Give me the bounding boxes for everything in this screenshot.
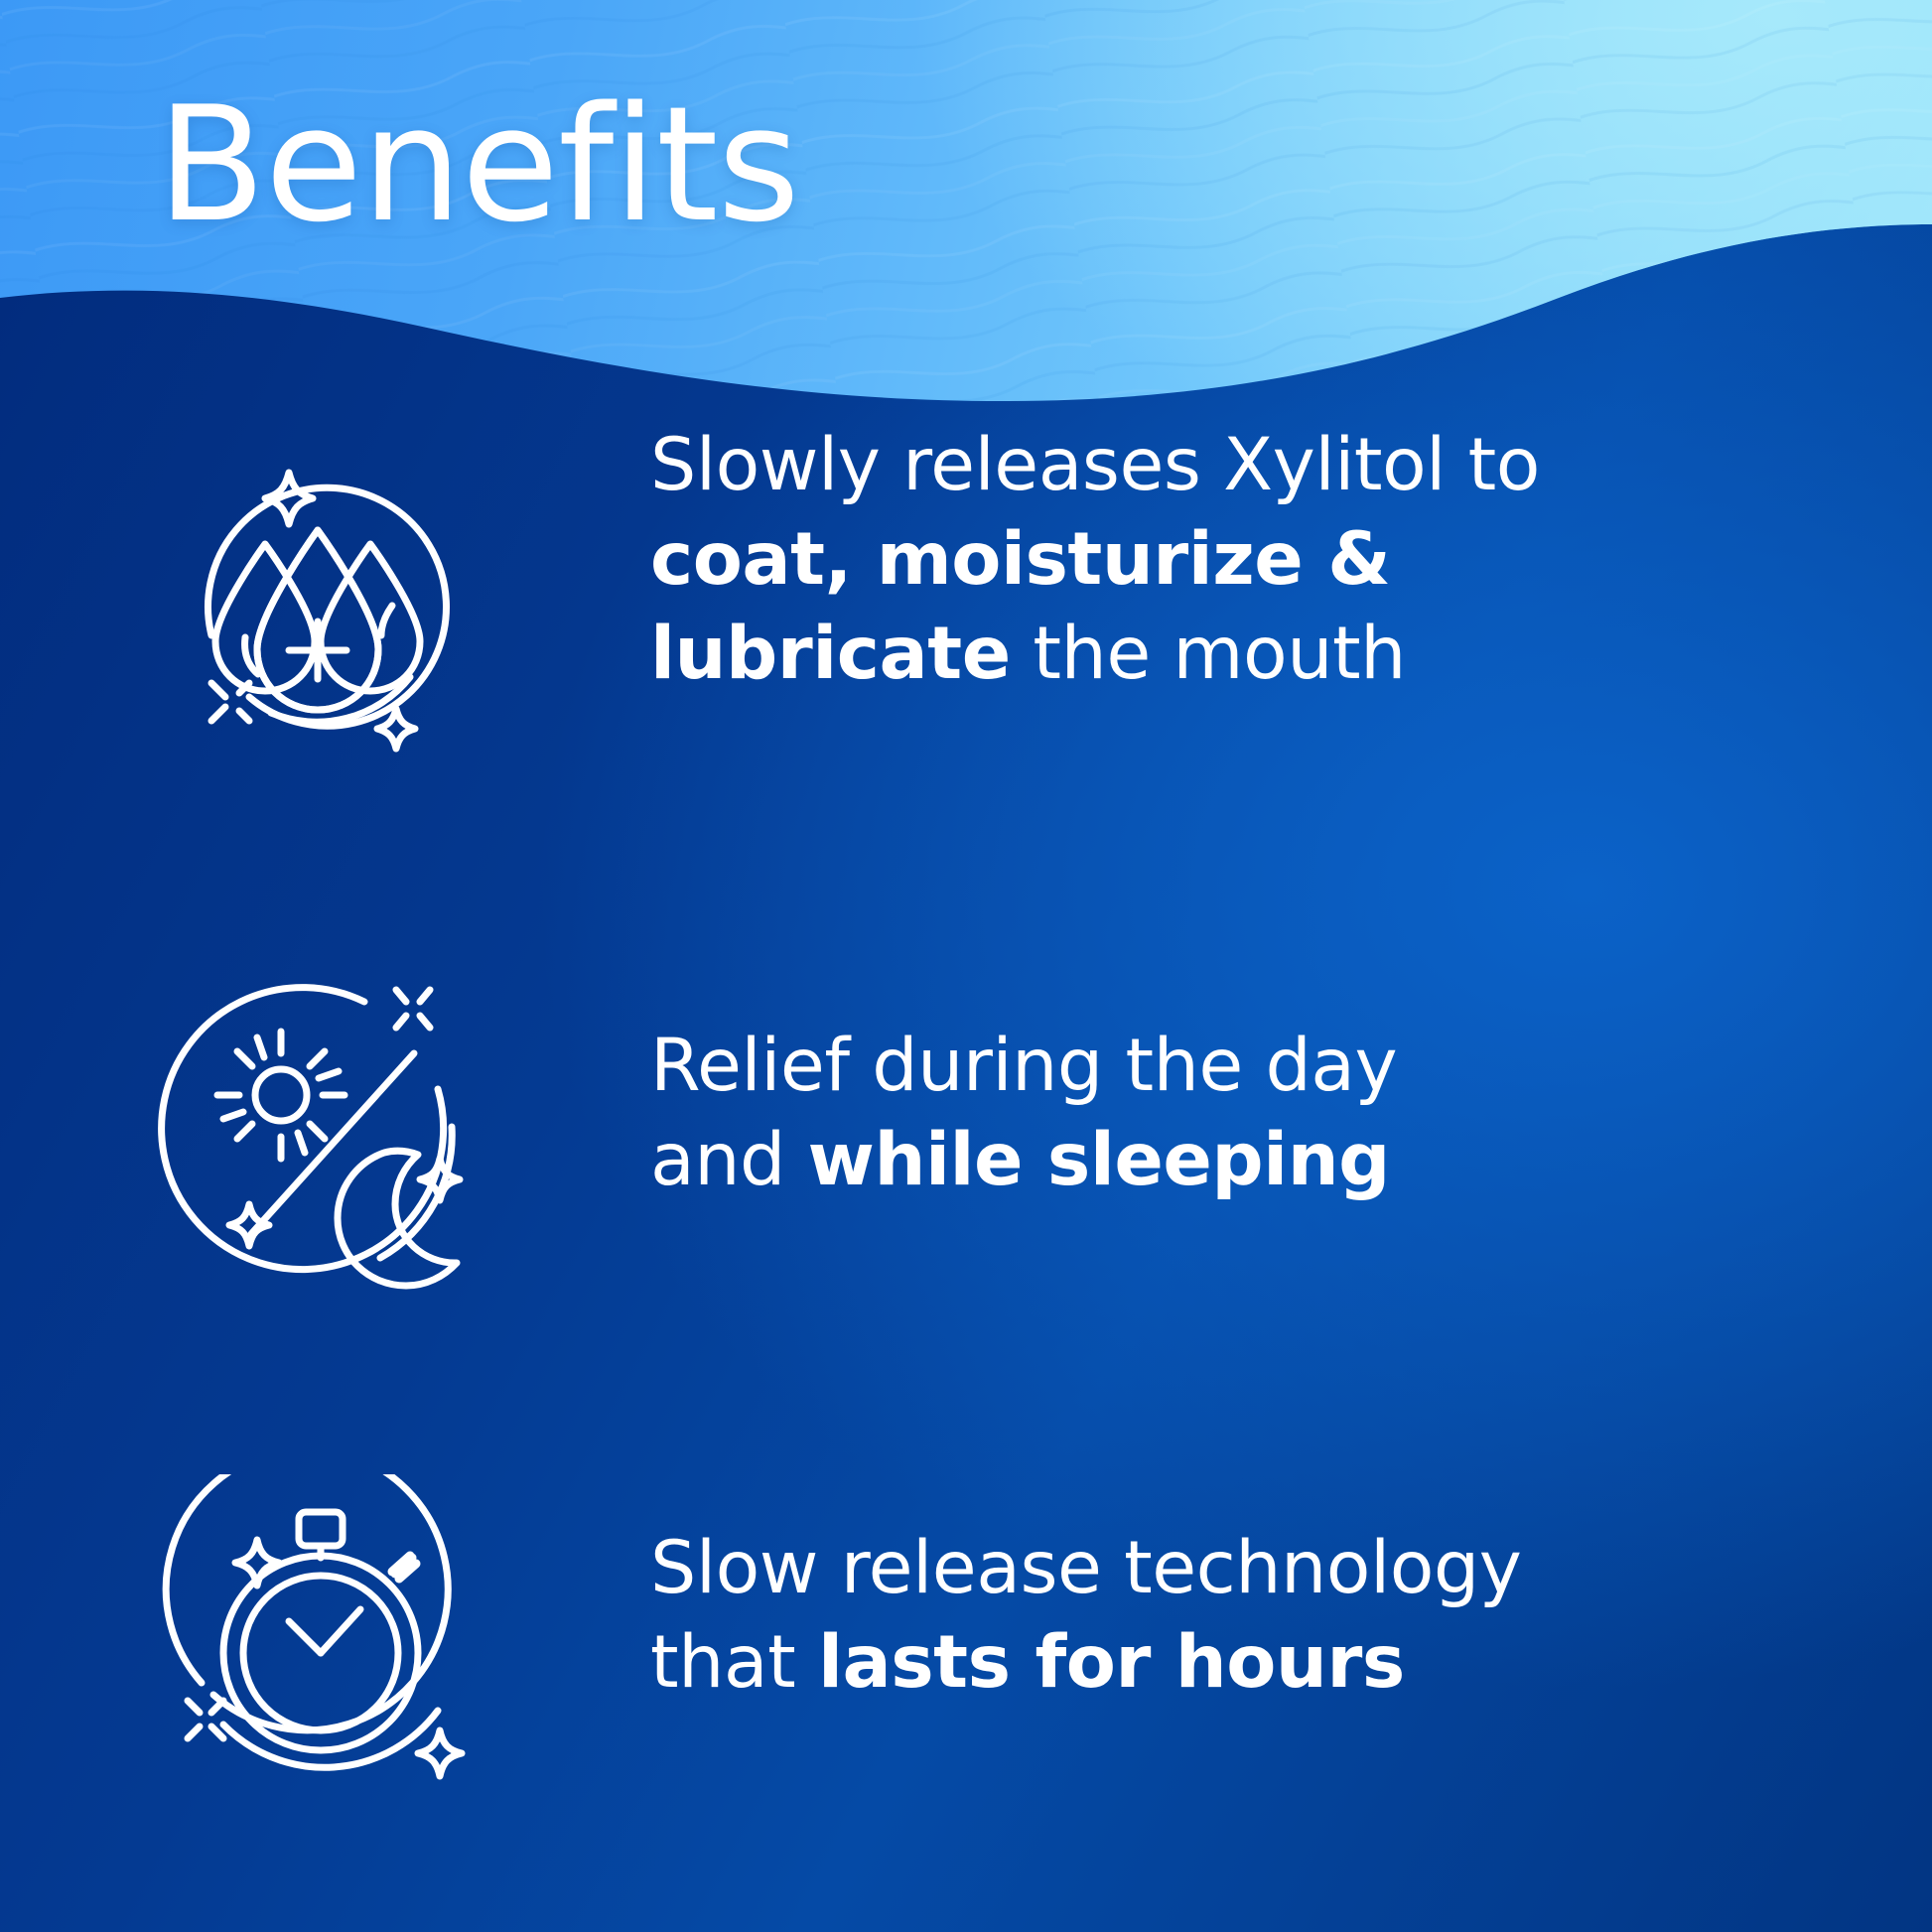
sun-moon-day-night-icon	[154, 968, 482, 1296]
benefit-line: and while sleeping	[650, 1114, 1852, 1208]
benefits-list: Slowly releases Xylitol tocoat, moisturi…	[0, 0, 1932, 1932]
benefit-text-plain: Relief during the day	[650, 1024, 1397, 1108]
benefit-text-plain: that	[650, 1620, 818, 1705]
benefit-line: that lasts for hours	[650, 1616, 1852, 1711]
water-droplets-plus-icon	[154, 427, 482, 755]
benefit-text-1: Slowly releases Xylitol tocoat, moisturi…	[650, 419, 1852, 702]
benefit-text-plain: Slowly releases Xylitol to	[650, 423, 1540, 507]
benefit-line: Relief during the day	[650, 1020, 1852, 1114]
benefit-text-plain: the mouth	[1011, 612, 1406, 696]
benefit-line: lubricate the mouth	[650, 608, 1852, 702]
stopwatch-icon	[154, 1474, 482, 1802]
benefit-text-plain: Slow release technology	[650, 1526, 1521, 1610]
benefit-text-3: Slow release technologythat lasts for ho…	[650, 1522, 1852, 1711]
benefit-text-2: Relief during the dayand while sleeping	[650, 1020, 1852, 1208]
benefit-item-2: Relief during the dayand while sleeping	[0, 968, 1932, 1296]
benefit-item-1: Slowly releases Xylitol tocoat, moisturi…	[0, 427, 1932, 755]
benefit-text-emphasis: lasts for hours	[818, 1620, 1405, 1705]
benefit-text-emphasis: coat, moisturize &	[650, 517, 1390, 602]
benefit-text-emphasis: lubricate	[650, 612, 1011, 696]
benefit-line: Slowly releases Xylitol to	[650, 419, 1852, 513]
benefit-item-3: Slow release technologythat lasts for ho…	[0, 1474, 1932, 1812]
benefit-text-plain: and	[650, 1118, 808, 1202]
benefit-text-emphasis: while sleeping	[808, 1118, 1390, 1202]
benefit-line: coat, moisturize &	[650, 513, 1852, 608]
benefit-line: Slow release technology	[650, 1522, 1852, 1616]
benefits-graphic: Benefits	[0, 0, 1932, 1932]
